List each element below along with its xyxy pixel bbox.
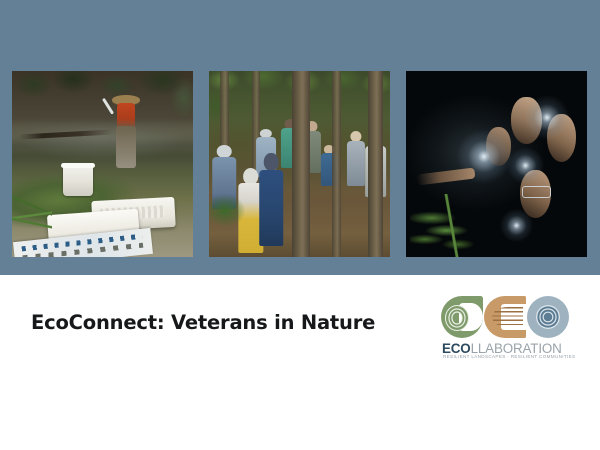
participant-body: [347, 141, 365, 187]
fern-frond: [410, 194, 493, 257]
tree-trunk: [292, 71, 310, 257]
logo-marks: [440, 296, 570, 340]
walk-participant: [347, 131, 365, 187]
tan-e-icon: [484, 296, 526, 338]
outstretched-arm: [416, 168, 475, 186]
photo-strip: [12, 71, 588, 257]
blue-ripple-o-icon: [527, 296, 569, 338]
walk-participant: [260, 153, 284, 246]
volunteer-torso: [117, 103, 135, 128]
photo-rainforest-group-walk: [209, 71, 390, 257]
sampling-bucket: [63, 166, 94, 196]
creek-reeds: [12, 186, 52, 257]
ripple-rings: [536, 305, 560, 329]
striation-lines: [492, 307, 523, 327]
creek-canopy: [12, 71, 193, 138]
headlamp-glow: [525, 95, 568, 140]
eyeglasses: [522, 186, 551, 197]
ecollaboration-logo: ECOLLABORATION RESILIENT LANDSCAPES · RE…: [440, 296, 570, 358]
tree-trunk: [332, 71, 341, 257]
volunteer-waders: [116, 126, 136, 168]
green-leaf-c-icon: [441, 296, 483, 338]
concentric-rings: [445, 305, 469, 331]
presentation-slide: EcoConnect: Veterans in Nature ECOLLABOR…: [0, 0, 600, 450]
headlamp-glow: [507, 147, 543, 184]
photo-creek-water-sampling: [12, 71, 193, 257]
understory-shrub: [209, 179, 245, 242]
logo-tagline: RESILIENT LANDSCAPES · RESILIENT COMMUNI…: [443, 354, 575, 359]
headlamp-glow: [500, 209, 533, 242]
participant-body: [260, 170, 284, 246]
slide-title: EcoConnect: Veterans in Nature: [31, 311, 375, 334]
photo-night-spotlighting: [406, 71, 587, 257]
wading-volunteer: [110, 95, 143, 169]
tree-trunk: [368, 71, 382, 257]
